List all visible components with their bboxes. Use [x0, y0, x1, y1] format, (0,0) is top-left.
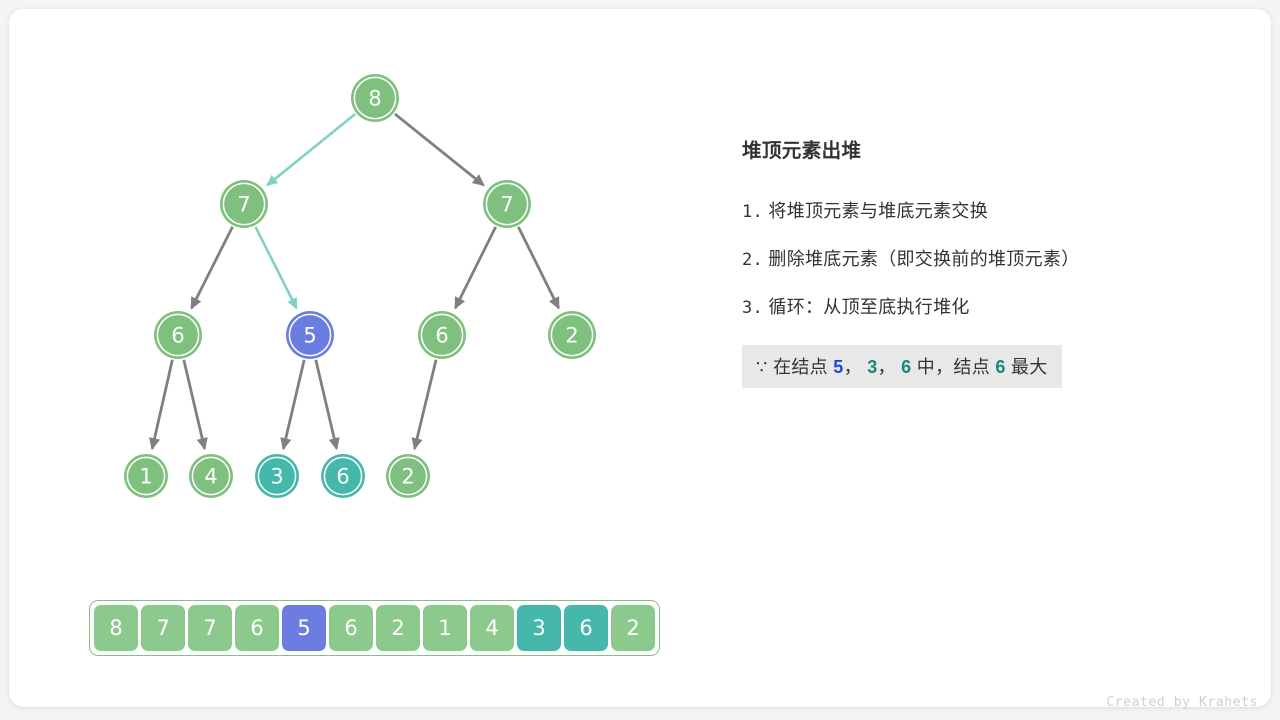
- tree-edge: [395, 114, 484, 185]
- array-cell: 8: [94, 605, 138, 651]
- note-max-value: 6: [995, 357, 1005, 377]
- array-cell: 6: [564, 605, 608, 651]
- array-cell: 3: [517, 605, 561, 651]
- tree-node: 7: [220, 180, 268, 228]
- tree-edges: [152, 114, 558, 449]
- tree-edge: [191, 227, 232, 308]
- array-cell-value: 5: [297, 616, 310, 640]
- heap-array: 877656214362: [89, 600, 660, 656]
- tree-nodes: 877656214362: [124, 74, 596, 498]
- array-cell: 6: [329, 605, 373, 651]
- tree-node: 1: [124, 454, 168, 498]
- tree-node: 6: [321, 454, 365, 498]
- array-cell-value: 7: [203, 616, 216, 640]
- node-label: 6: [336, 465, 349, 489]
- step-item-1: 1. 将堆顶元素与堆底元素交换: [742, 197, 1212, 223]
- array-cell-value: 6: [250, 616, 263, 640]
- tree-edge: [415, 360, 436, 449]
- page-title: 堆顶元素出堆: [742, 134, 1212, 163]
- node-label: 2: [401, 465, 414, 489]
- array-cell: 6: [235, 605, 279, 651]
- array-cell: 5: [282, 605, 326, 651]
- array-cell-value: 3: [532, 616, 545, 640]
- array-cell-value: 6: [344, 616, 357, 640]
- tree-edge: [184, 360, 205, 449]
- array-cell-value: 4: [485, 616, 498, 640]
- array-cell: 1: [423, 605, 467, 651]
- explanation-panel: 堆顶元素出堆 1. 将堆顶元素与堆底元素交换 2. 删除堆底元素（即交换前的堆顶…: [742, 134, 1212, 388]
- array-cell: 2: [611, 605, 655, 651]
- note-value-3: 6: [901, 357, 911, 377]
- tree-node: 3: [255, 454, 299, 498]
- note-suffix: 最大: [1011, 357, 1048, 377]
- tree-node: 6: [418, 311, 466, 359]
- note-value-1: 5: [833, 357, 843, 377]
- note-middle: 中，结点: [917, 357, 990, 377]
- array-cell: 4: [470, 605, 514, 651]
- node-label: 7: [500, 193, 513, 217]
- note-value-2: 3: [867, 357, 877, 377]
- because-symbol: ∵: [756, 357, 768, 378]
- step-number: 2.: [742, 250, 763, 270]
- tree-edge: [255, 227, 296, 308]
- node-label: 7: [237, 193, 250, 217]
- node-label: 1: [139, 465, 152, 489]
- tree-node: 2: [386, 454, 430, 498]
- step-item-2: 2. 删除堆底元素（即交换前的堆顶元素）: [742, 245, 1212, 271]
- conclusion-note: ∵ 在结点 5， 3， 6 中，结点 6 最大: [742, 345, 1062, 388]
- array-cell-value: 2: [626, 616, 639, 640]
- tree-node: 6: [154, 311, 202, 359]
- node-label: 6: [435, 324, 448, 348]
- tree-edge: [455, 227, 495, 308]
- tree-node: 8: [351, 74, 399, 122]
- step-item-3: 3. 循环：从顶至底执行堆化: [742, 293, 1212, 319]
- array-cell: 7: [141, 605, 185, 651]
- tree-edge: [316, 360, 337, 449]
- array-cell-value: 8: [109, 616, 122, 640]
- tree-node: 5: [286, 311, 334, 359]
- tree-edge: [518, 227, 558, 308]
- tree-edge: [267, 114, 355, 185]
- node-label: 5: [303, 324, 316, 348]
- array-cell-value: 1: [438, 616, 451, 640]
- node-label: 8: [368, 87, 381, 111]
- note-separator-1: ，: [844, 357, 862, 377]
- step-text: 将堆顶元素与堆底元素交换: [768, 201, 988, 221]
- tree-node: 7: [483, 180, 531, 228]
- tree-node: 4: [189, 454, 233, 498]
- node-label: 2: [565, 324, 578, 348]
- array-cell: 2: [376, 605, 420, 651]
- array-cell-value: 7: [156, 616, 169, 640]
- tree-edge: [283, 360, 304, 449]
- array-cell-value: 2: [391, 616, 404, 640]
- tree-node: 2: [548, 311, 596, 359]
- step-text: 循环：从顶至底执行堆化: [768, 297, 969, 317]
- screenshot-root: 877656214362 堆顶元素出堆 1. 将堆顶元素与堆底元素交换 2. 删…: [0, 0, 1280, 720]
- credit-footer: Created by Krahets: [1106, 695, 1258, 710]
- step-number: 3.: [742, 298, 763, 318]
- step-text: 删除堆底元素（即交换前的堆顶元素）: [768, 249, 1079, 269]
- tree-edge: [152, 360, 172, 449]
- array-cell: 7: [188, 605, 232, 651]
- note-prefix: 在结点: [773, 357, 828, 377]
- node-label: 4: [204, 465, 217, 489]
- node-label: 6: [171, 324, 184, 348]
- note-separator-2: ，: [878, 357, 896, 377]
- step-number: 1.: [742, 202, 763, 222]
- array-cell-value: 6: [579, 616, 592, 640]
- node-label: 3: [270, 465, 283, 489]
